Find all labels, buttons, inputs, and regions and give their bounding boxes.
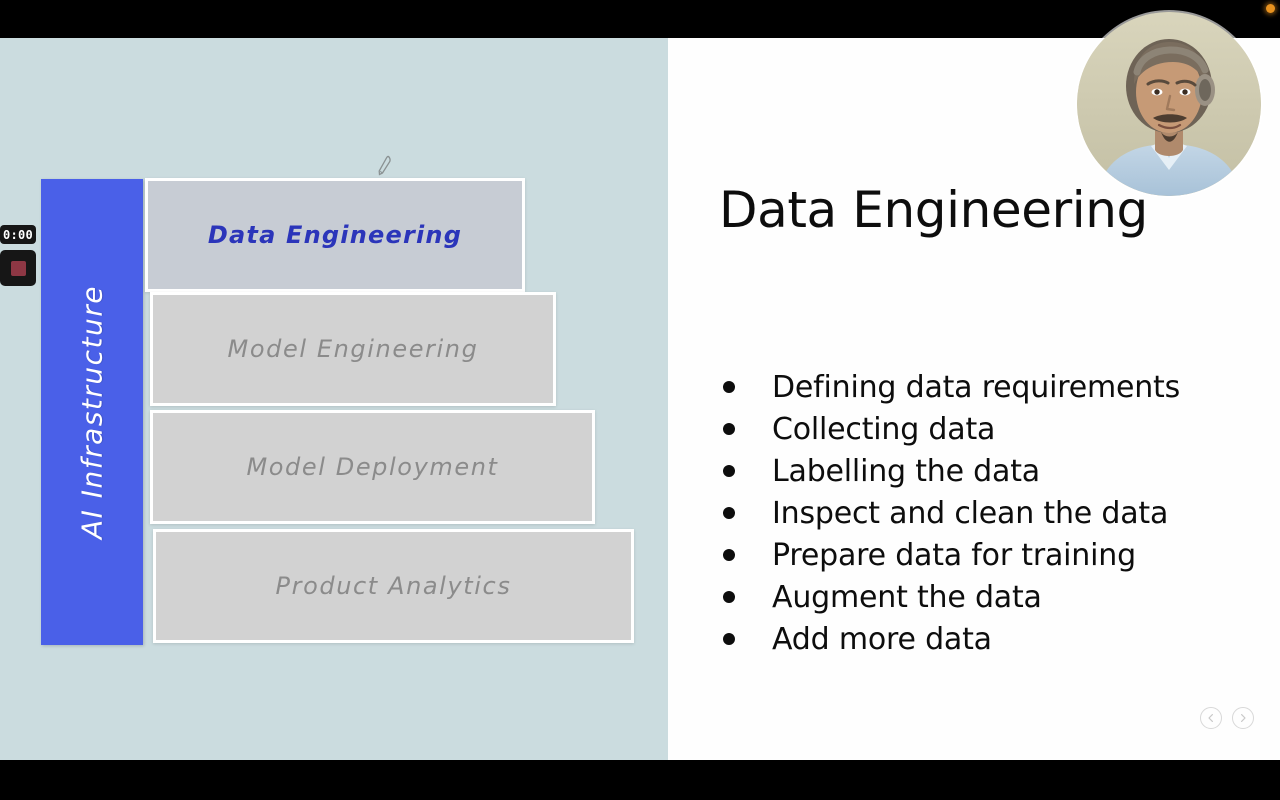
- previous-slide-button[interactable]: [1200, 707, 1222, 729]
- slide-navigation: [1200, 707, 1254, 729]
- bullet-text: Labelling the data: [772, 455, 1040, 488]
- webcam-bubble[interactable]: [1077, 12, 1261, 196]
- ai-infrastructure-label: AI Infrastructure: [76, 285, 109, 539]
- bullet-text: Add more data: [772, 623, 992, 656]
- presenter-avatar: [1077, 12, 1261, 196]
- step-model-engineering[interactable]: Model Engineering: [150, 292, 556, 406]
- bullet-text: Augment the data: [772, 581, 1042, 614]
- bullet-text: Collecting data: [772, 413, 995, 446]
- bullet-dot-icon: [723, 381, 735, 393]
- bullet-list: Defining data requirements Collecting da…: [723, 371, 1263, 665]
- list-item: Prepare data for training: [723, 539, 1263, 572]
- list-item: Labelling the data: [723, 455, 1263, 488]
- letterbox-top: [0, 0, 1280, 38]
- list-item: Augment the data: [723, 581, 1263, 614]
- bullet-dot-icon: [723, 633, 735, 645]
- recording-timer: 0:00: [0, 225, 36, 244]
- bullet-dot-icon: [723, 507, 735, 519]
- screen-recording-frame: AI Infrastructure Data Engineering Model…: [0, 0, 1280, 800]
- list-item: Collecting data: [723, 413, 1263, 446]
- step-product-analytics[interactable]: Product Analytics: [153, 529, 634, 643]
- recording-widget: 0:00: [0, 225, 36, 286]
- step-model-deployment[interactable]: Model Deployment: [150, 410, 595, 524]
- step-data-engineering[interactable]: Data Engineering: [145, 178, 525, 292]
- step-label: Product Analytics: [276, 572, 512, 600]
- list-item: Add more data: [723, 623, 1263, 656]
- next-slide-button[interactable]: [1232, 707, 1254, 729]
- stop-square-icon: [11, 261, 26, 276]
- bullet-dot-icon: [723, 465, 735, 477]
- letterbox-bottom: [0, 760, 1280, 800]
- ai-infrastructure-bar: AI Infrastructure: [41, 179, 143, 645]
- list-item: Defining data requirements: [723, 371, 1263, 404]
- bullet-dot-icon: [723, 549, 735, 561]
- recording-indicator-dot: [1266, 4, 1275, 13]
- step-label: Model Deployment: [246, 453, 498, 481]
- bullet-text: Inspect and clean the data: [772, 497, 1168, 530]
- step-label: Model Engineering: [228, 335, 479, 363]
- slide-title: Data Engineering: [719, 181, 1148, 239]
- bullet-text: Prepare data for training: [772, 539, 1136, 572]
- stop-recording-button[interactable]: [0, 250, 36, 286]
- list-item: Inspect and clean the data: [723, 497, 1263, 530]
- bullet-dot-icon: [723, 591, 735, 603]
- pen-icon: [374, 154, 394, 176]
- bullet-text: Defining data requirements: [772, 371, 1180, 404]
- step-label: Data Engineering: [208, 221, 462, 249]
- chevron-right-icon: [1238, 713, 1248, 723]
- bullet-dot-icon: [723, 423, 735, 435]
- slide-left-panel: AI Infrastructure Data Engineering Model…: [0, 38, 668, 760]
- chevron-left-icon: [1206, 713, 1216, 723]
